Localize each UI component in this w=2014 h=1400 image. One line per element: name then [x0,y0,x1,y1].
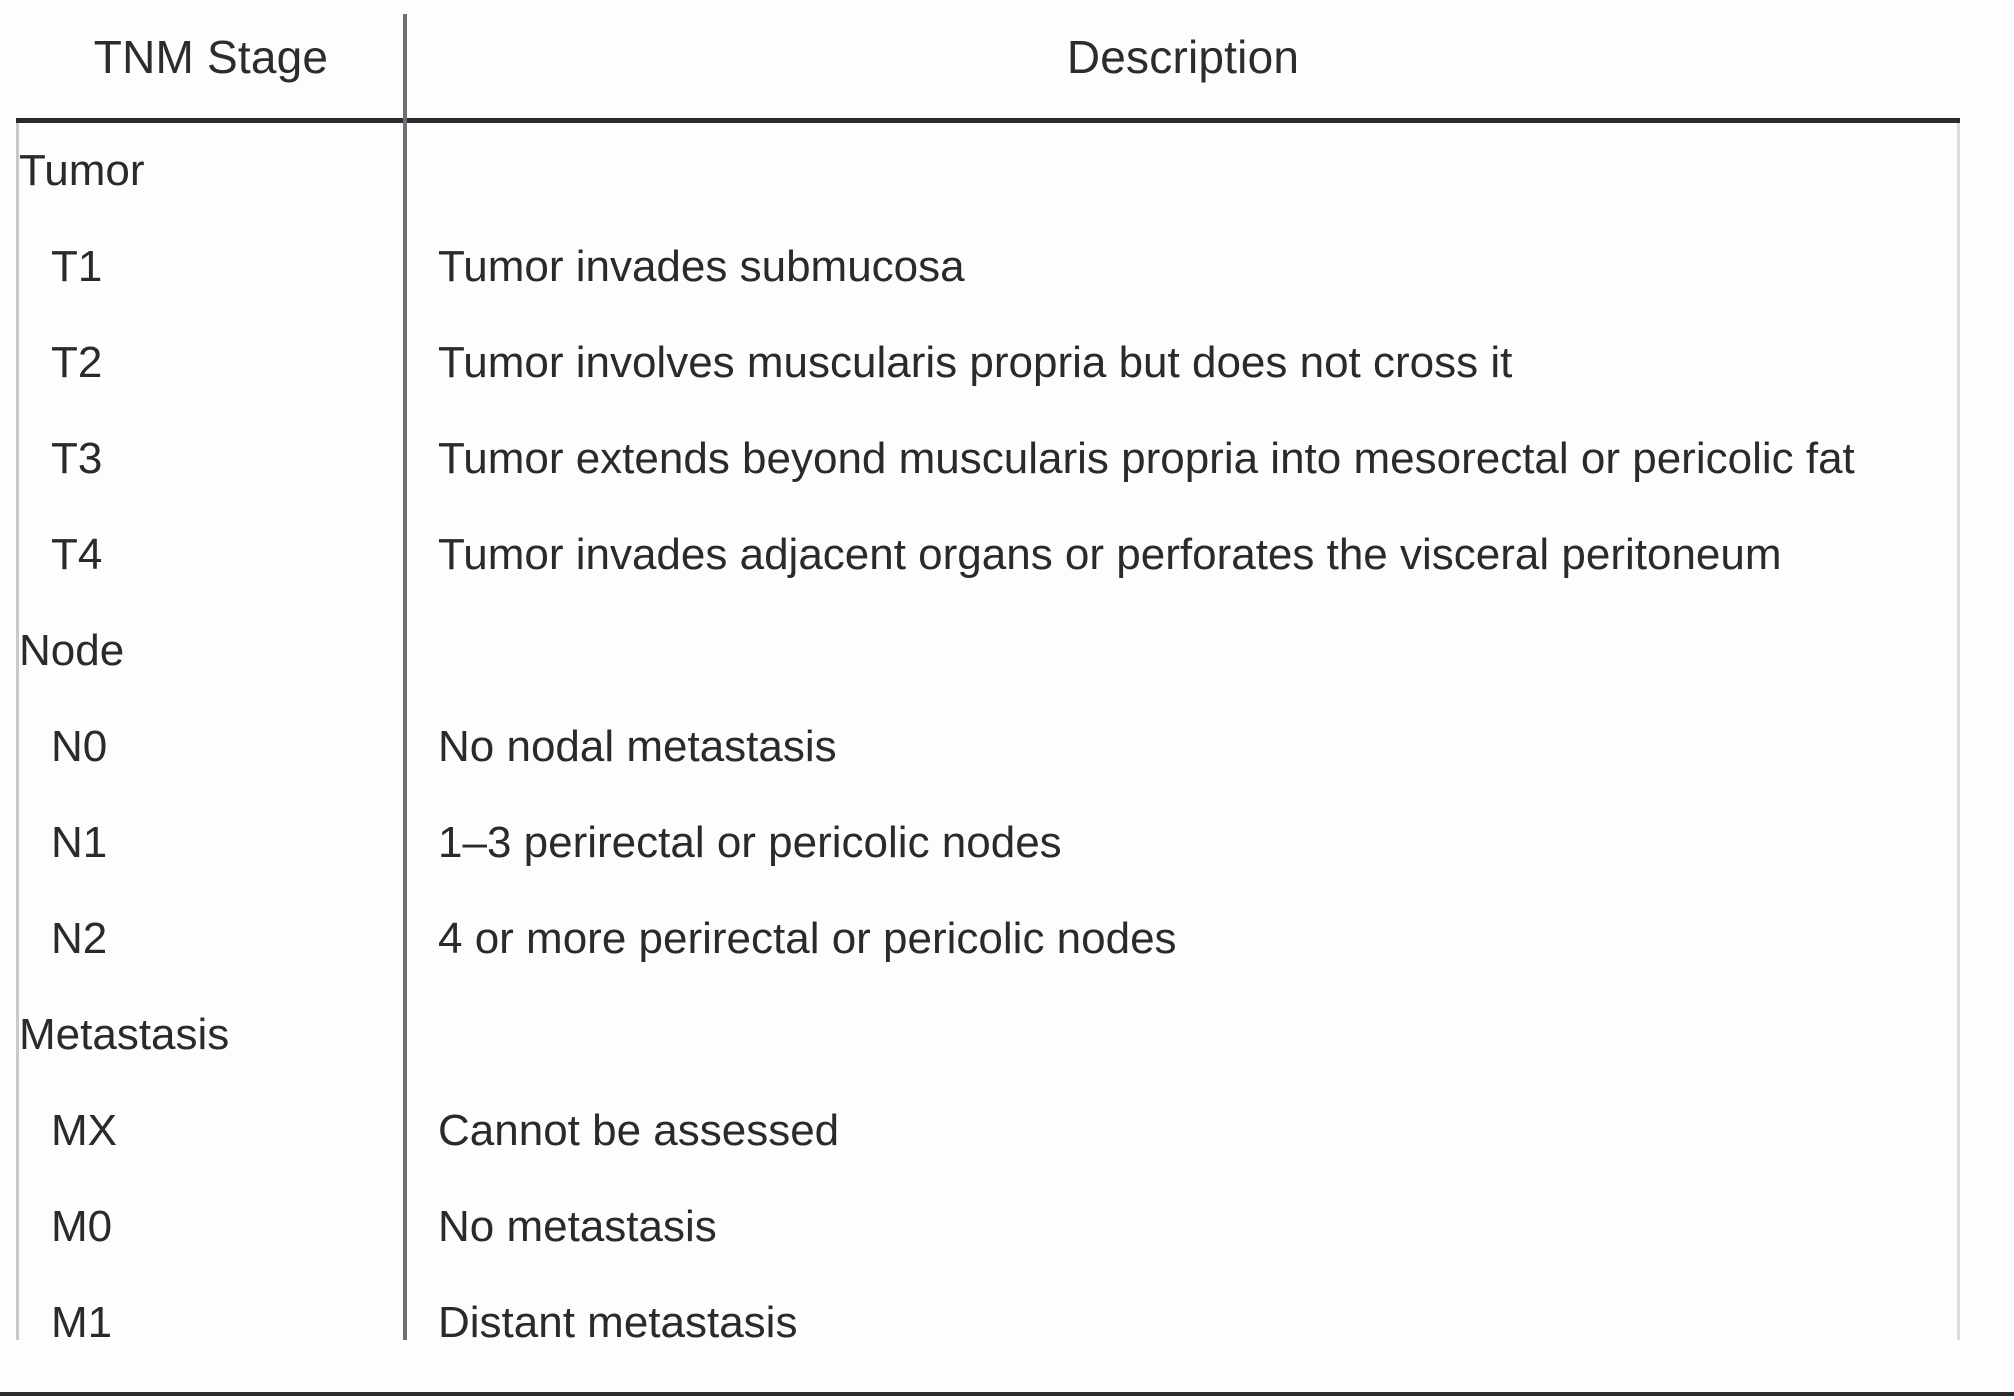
column-header-tnm-stage: TNM Stage [16,30,406,84]
stage-code-label: T3 [19,411,435,507]
table-row: Node [0,603,2014,699]
stage-description: 4 or more perirectal or pericolic nodes [438,891,2014,987]
stage-description [438,603,2014,699]
stage-code-label: N2 [19,891,435,987]
table-header: TNM Stage Description [0,0,2014,120]
stage-code-label: T4 [19,507,435,603]
column-header-description: Description [406,30,1960,84]
stage-description: Cannot be assessed [438,1083,2014,1179]
stage-group-label: Metastasis [19,987,403,1083]
table-figure: TNM Stage Description TumorT1Tumor invad… [0,0,2014,1400]
table-row: M0No metastasis [0,1179,2014,1275]
stage-group-label: Tumor [19,123,403,219]
table-row: Metastasis [0,987,2014,1083]
table-row: T4Tumor invades adjacent organs or perfo… [0,507,2014,603]
table-row: T3Tumor extends beyond muscularis propri… [0,411,2014,507]
stage-code-label: N1 [19,795,435,891]
stage-description [438,987,2014,1083]
table-row: M1Distant metastasis [0,1275,2014,1371]
stage-code-label: N0 [19,699,435,795]
bottom-rule [0,1392,2014,1396]
table-row: N24 or more perirectal or pericolic node… [0,891,2014,987]
table-row: N11–3 perirectal or pericolic nodes [0,795,2014,891]
stage-code-label: T2 [19,315,435,411]
table-row: MXCannot be assessed [0,1083,2014,1179]
table-row: T2Tumor involves muscularis propria but … [0,315,2014,411]
stage-code-label: M0 [19,1179,435,1275]
stage-code-label: MX [19,1083,435,1179]
table-row: T1Tumor invades submucosa [0,219,2014,315]
stage-description: Distant metastasis [438,1275,2014,1371]
tnm-staging-table: TNM Stage Description TumorT1Tumor invad… [0,0,2014,1400]
stage-description: Tumor invades adjacent organs or perfora… [438,507,2014,603]
stage-code-label: T1 [19,219,435,315]
stage-description: Tumor extends beyond muscularis propria … [438,411,2014,507]
stage-code-label: M1 [19,1275,435,1371]
stage-description: Tumor invades submucosa [438,219,2014,315]
stage-description: 1–3 perirectal or pericolic nodes [438,795,2014,891]
stage-description [438,123,2014,219]
stage-description: No metastasis [438,1179,2014,1275]
table-row: N0No nodal metastasis [0,699,2014,795]
table-row: Tumor [0,123,2014,219]
stage-description: No nodal metastasis [438,699,2014,795]
stage-group-label: Node [19,603,403,699]
stage-description: Tumor involves muscularis propria but do… [438,315,2014,411]
